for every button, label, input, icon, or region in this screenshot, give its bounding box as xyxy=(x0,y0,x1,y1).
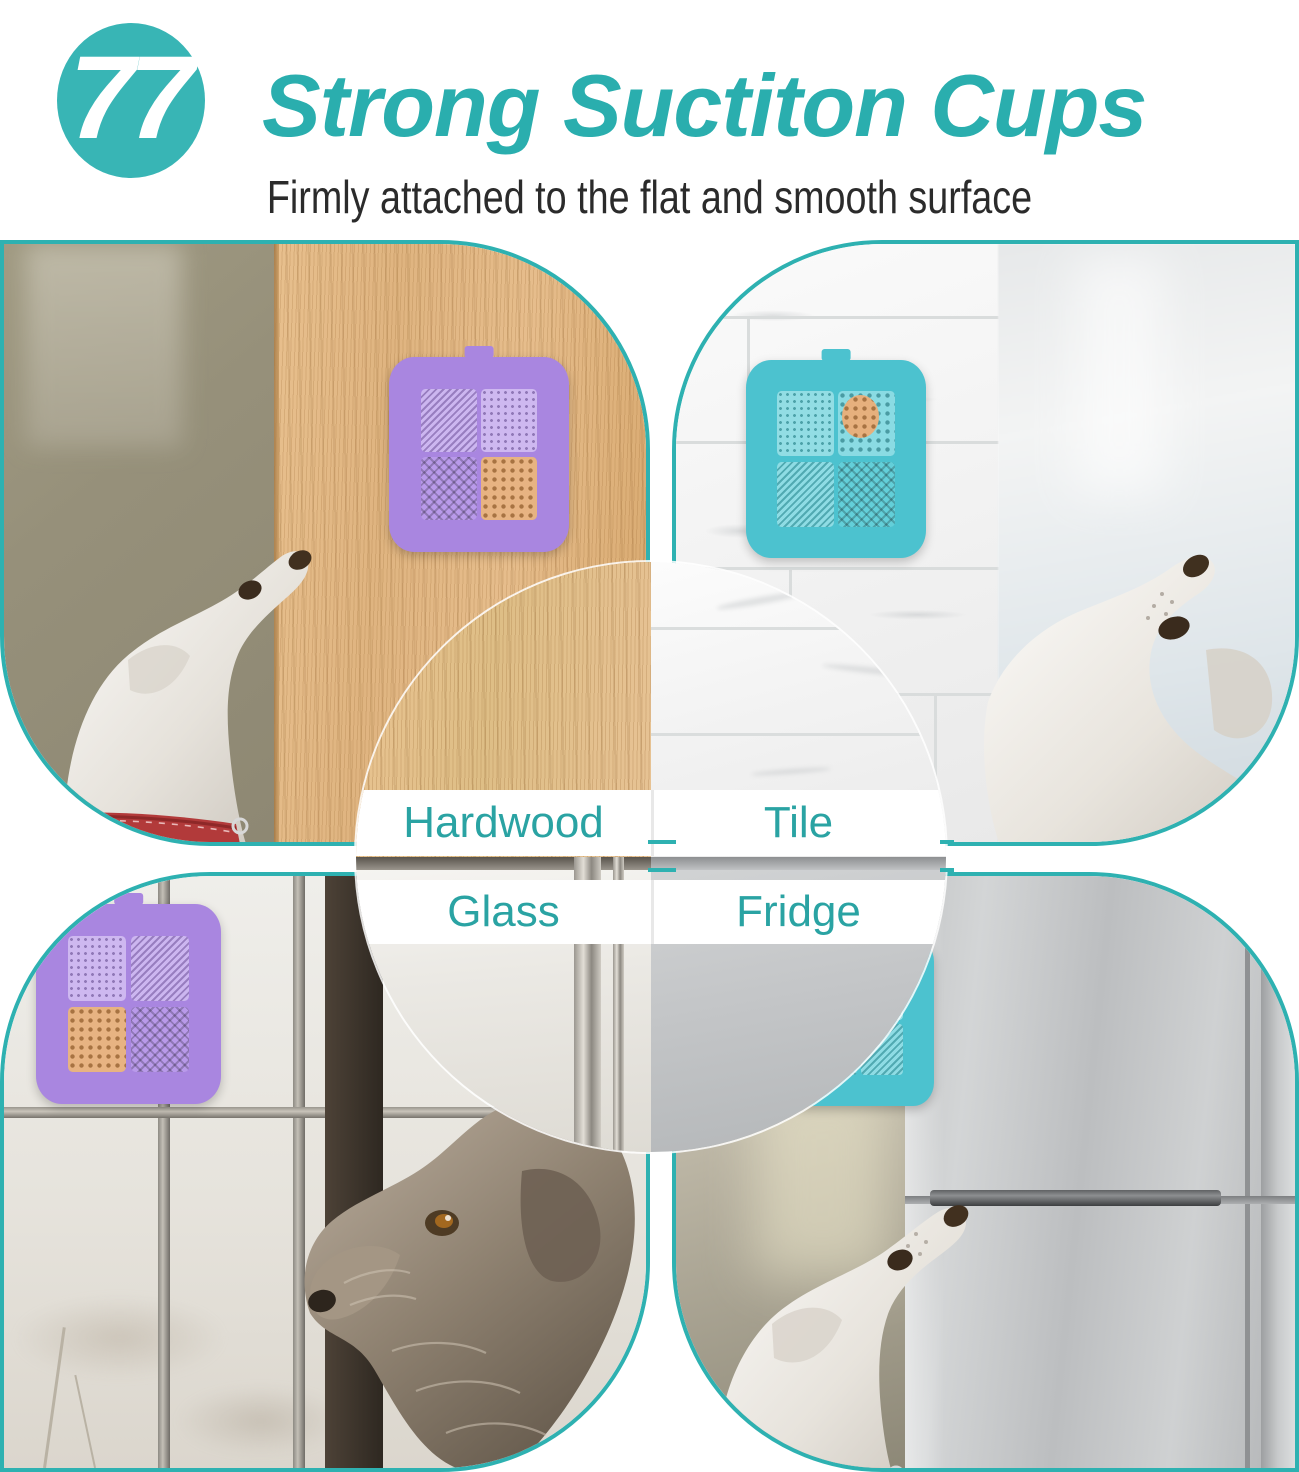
mat-hang-tab xyxy=(465,346,494,358)
panel-accent-segment xyxy=(648,840,676,844)
lick-mat-teal-tile[interactable] xyxy=(746,360,926,558)
mat-quadrant-dot xyxy=(777,391,834,456)
mat-quadrant-dot xyxy=(481,389,537,452)
dog-white-profile xyxy=(54,514,354,842)
fridge-frame-top xyxy=(651,857,946,870)
mat-hang-tab xyxy=(114,893,144,905)
tile-grout-line xyxy=(676,316,1043,319)
glass-frame-top xyxy=(356,857,651,870)
panel-accent-segment xyxy=(940,868,954,872)
marble-vein xyxy=(822,662,932,679)
refrigerator-door-gap xyxy=(1245,876,1250,1468)
panel-accent-segment xyxy=(940,840,954,844)
surface-label-tile: Tile xyxy=(651,801,946,845)
label-band-bottom: Glass Fridge xyxy=(356,880,946,944)
mat-texture-grid xyxy=(777,391,895,527)
label-band-top: Hardwood Tile xyxy=(356,790,946,856)
mat-quadrant-wave xyxy=(421,389,477,452)
dog-white-looking-up xyxy=(966,502,1295,842)
marble-vein xyxy=(716,590,806,613)
tile-grout-line xyxy=(651,733,946,736)
dog-white-fridge xyxy=(704,1166,1004,1468)
label-divider xyxy=(651,880,654,944)
lick-mat-purple-hardwood[interactable] xyxy=(389,357,569,552)
surface-comparison-circle: Hardwood Tile Glass Fridge xyxy=(356,562,946,1152)
badge-number: 77 xyxy=(69,39,188,157)
label-divider xyxy=(651,790,654,856)
mat-texture-grid xyxy=(421,389,537,520)
panel-accent-segment xyxy=(648,868,676,872)
marble-vein xyxy=(751,766,831,777)
lick-mat-purple-glass[interactable] xyxy=(36,904,221,1104)
mat-quadrant-cross xyxy=(131,1007,189,1072)
mat-food-blob xyxy=(842,395,879,438)
surface-label-glass: Glass xyxy=(356,890,651,934)
mat-quadrant-food-honeycomb xyxy=(68,1007,126,1072)
surface-label-hardwood: Hardwood xyxy=(356,801,651,845)
mat-quadrant-cross xyxy=(421,457,477,520)
tile-grout-line xyxy=(651,627,946,630)
mat-hang-tab xyxy=(822,349,851,361)
mat-quadrant-dot xyxy=(68,936,126,1001)
page-title: Strong Suctiton Cups xyxy=(262,46,1262,166)
refrigerator-side-panel xyxy=(1261,876,1295,1468)
suction-cup-count-badge: 77 xyxy=(57,23,205,178)
header-banner: 77 Strong Suctiton Cups Firmly attached … xyxy=(0,0,1299,240)
mat-quadrant-wave xyxy=(777,462,834,527)
mat-quadrant-honeycomb xyxy=(838,391,895,456)
mat-quadrant-food-honeycomb xyxy=(481,457,537,520)
mat-quadrant-wave xyxy=(131,936,189,1001)
mat-texture-grid xyxy=(68,936,189,1072)
page-subtitle: Firmly attached to the flat and smooth s… xyxy=(117,168,1182,226)
mat-quadrant-cross xyxy=(838,462,895,527)
surface-label-fridge: Fridge xyxy=(651,890,946,934)
